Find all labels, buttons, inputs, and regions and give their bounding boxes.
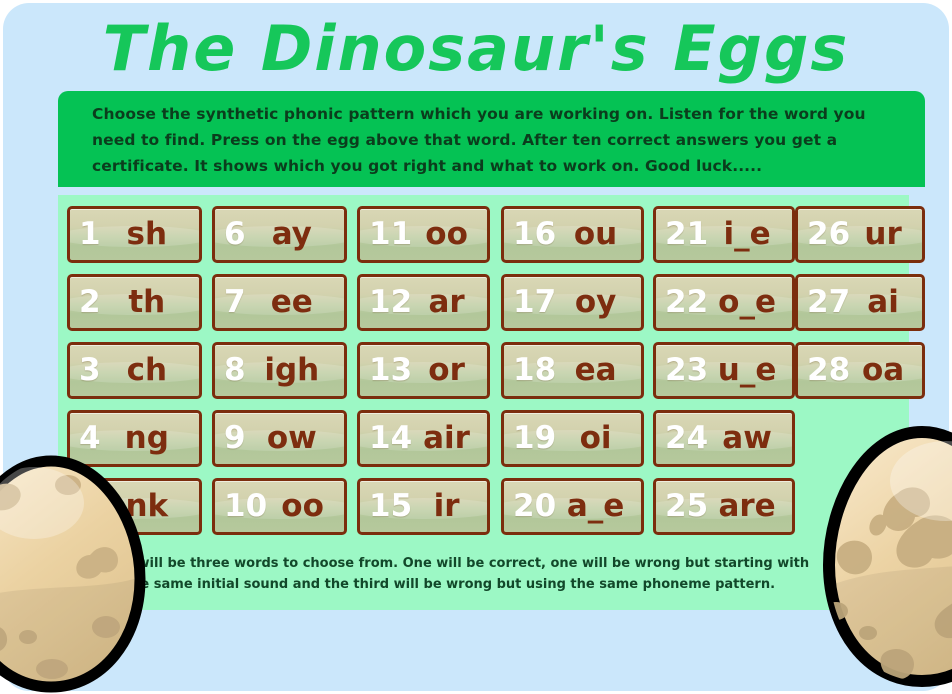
phoneme-button-15[interactable]: 15ir [357,478,490,535]
phoneme-button-7[interactable]: 7ee [212,274,347,331]
phoneme-button-8[interactable]: 8igh [212,342,347,399]
phoneme-button-number: 7 [215,287,246,318]
phoneme-button-label: a_e [556,491,641,522]
phoneme-column-5: 21i_e22o_e23u_e24aw25are [653,206,795,546]
phoneme-button-label: ai [850,287,922,318]
phoneme-column-4: 16ou17oy18ea19oi20a_e [501,206,644,546]
instruction-banner: Choose the synthetic phonic pattern whic… [58,91,925,187]
phoneme-button-number: 12 [360,287,412,318]
poster-stage: The Dinosaur's Eggs Choose the synthetic… [0,0,952,694]
phoneme-button-27[interactable]: 27ai [795,274,925,331]
phoneme-button-number: 24 [656,423,708,454]
phoneme-button-number: 4 [70,423,101,454]
phoneme-button-28[interactable]: 28oa [795,342,925,399]
phoneme-button-25[interactable]: 25are [653,478,795,535]
phoneme-button-14[interactable]: 14air [357,410,490,467]
phoneme-button-label: u_e [708,355,792,386]
phoneme-button-label: igh [246,355,344,386]
phoneme-button-label: or [412,355,487,386]
phoneme-button-number: 6 [215,219,246,250]
phoneme-column-3: 11oo12ar13or14air15ir [357,206,490,546]
phoneme-button-label: ur [850,219,922,250]
phoneme-button-20[interactable]: 20a_e [501,478,644,535]
phoneme-button-number: 2 [70,287,101,318]
phoneme-button-number: 21 [656,219,708,250]
phoneme-column-1: 1sh2th3ch4ng5nk [67,206,202,546]
phoneme-button-label: oi [556,423,641,454]
phoneme-button-9[interactable]: 9ow [212,410,347,467]
phoneme-button-label: oy [556,287,641,318]
phoneme-button-label: nk [101,491,199,522]
phoneme-button-number: 8 [215,355,246,386]
phoneme-button-number: 27 [798,287,850,318]
phoneme-button-label: ay [246,219,344,250]
phoneme-button-label: i_e [708,219,792,250]
phoneme-button-18[interactable]: 18ea [501,342,644,399]
phoneme-button-grid: 1sh2th3ch4ng5nk6ay7ee8igh9ow10oo11oo12ar… [67,206,897,536]
phoneme-button-label: ng [101,423,199,454]
phoneme-button-22[interactable]: 22o_e [653,274,795,331]
phoneme-button-number: 28 [798,355,850,386]
phoneme-button-number: 19 [504,423,556,454]
phoneme-button-label: oa [850,355,922,386]
phoneme-button-number: 25 [656,491,708,522]
phoneme-button-label: oo [412,219,487,250]
phoneme-button-19[interactable]: 19oi [501,410,644,467]
phoneme-button-16[interactable]: 16ou [501,206,644,263]
phoneme-button-number: 22 [656,287,708,318]
phoneme-button-label: o_e [708,287,792,318]
phoneme-button-23[interactable]: 23u_e [653,342,795,399]
phoneme-column-6: 26ur27ai28oa [795,206,925,410]
phoneme-button-label: th [101,287,199,318]
phoneme-button-label: aw [708,423,792,454]
phoneme-button-label: ar [412,287,487,318]
phoneme-column-2: 6ay7ee8igh9ow10oo [212,206,347,546]
phoneme-button-1[interactable]: 1sh [67,206,202,263]
phoneme-button-24[interactable]: 24aw [653,410,795,467]
phoneme-button-number: 23 [656,355,708,386]
phoneme-button-label: are [708,491,792,522]
phoneme-button-21[interactable]: 21i_e [653,206,795,263]
phoneme-button-3[interactable]: 3ch [67,342,202,399]
phoneme-button-5[interactable]: 5nk [67,478,202,535]
phoneme-button-10[interactable]: 10oo [212,478,347,535]
phoneme-button-number: 14 [360,423,412,454]
phoneme-button-number: 9 [215,423,246,454]
phoneme-button-13[interactable]: 13or [357,342,490,399]
phoneme-button-label: sh [101,219,199,250]
phoneme-button-label: ou [556,219,641,250]
phoneme-button-number: 15 [360,491,412,522]
phoneme-button-12[interactable]: 12ar [357,274,490,331]
phoneme-button-number: 18 [504,355,556,386]
footnote-text: There will be three words to choose from… [90,553,810,595]
phoneme-button-number: 1 [70,219,101,250]
instruction-text: Choose the synthetic phonic pattern whic… [92,101,903,179]
phoneme-button-number: 13 [360,355,412,386]
phoneme-button-4[interactable]: 4ng [67,410,202,467]
page-title: The Dinosaur's Eggs [0,8,952,90]
phoneme-button-number: 16 [504,219,556,250]
phoneme-button-label: ow [246,423,344,454]
phoneme-button-number: 26 [798,219,850,250]
phoneme-button-label: ch [101,355,199,386]
phoneme-button-number: 3 [70,355,101,386]
phoneme-button-17[interactable]: 17oy [501,274,644,331]
phoneme-button-26[interactable]: 26ur [795,206,925,263]
phoneme-button-number: 20 [504,491,556,522]
phoneme-button-label: ir [412,491,487,522]
phoneme-button-11[interactable]: 11oo [357,206,490,263]
phoneme-button-label: oo [267,491,344,522]
phoneme-button-number: 17 [504,287,556,318]
phoneme-button-label: ea [556,355,641,386]
phoneme-button-number: 10 [215,491,267,522]
phoneme-button-2[interactable]: 2th [67,274,202,331]
phoneme-button-6[interactable]: 6ay [212,206,347,263]
phoneme-button-label: air [412,423,487,454]
phoneme-button-number: 11 [360,219,412,250]
phoneme-button-label: ee [246,287,344,318]
phoneme-button-number: 5 [70,491,101,522]
